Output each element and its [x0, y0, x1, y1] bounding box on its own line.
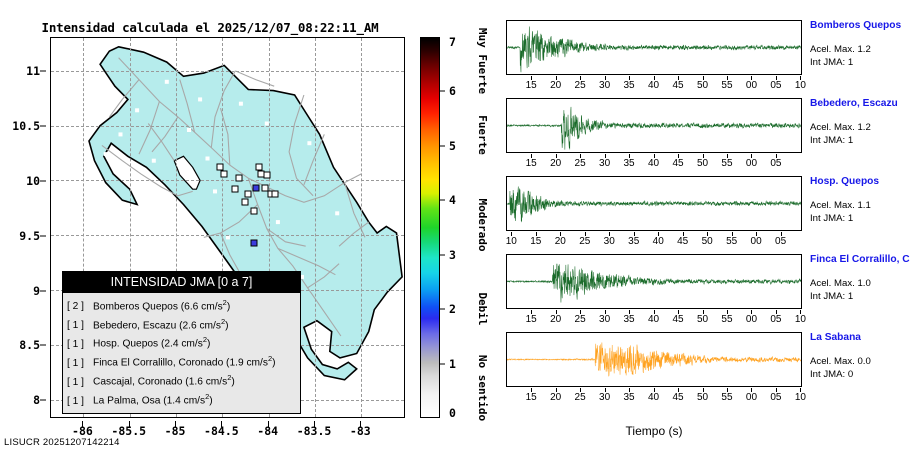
map-x-tick-mark	[314, 421, 315, 427]
intensity-legend-title: INTENSIDAD JMA [0 a 7]	[63, 272, 300, 293]
colorbar-category-label: No sentido	[476, 355, 489, 421]
seismogram-plot[interactable]	[506, 332, 802, 387]
seismogram-tick-label: 35	[624, 392, 635, 403]
seismogram-station-name[interactable]: Bomberos Quepos	[810, 20, 910, 32]
seismogram-x-ticks: 1520253035404550550005	[506, 154, 802, 170]
map-x-tick-mark	[82, 421, 83, 427]
seismogram-tick-label: 20	[550, 392, 561, 403]
seismogram-tick-label: 05	[770, 392, 781, 403]
map-y-tick-label: 11	[26, 64, 40, 78]
colorbar-tick-label: 7	[449, 35, 456, 49]
seismogram-tick-label: 50	[697, 392, 708, 403]
seismogram-tick-label: 40	[648, 314, 659, 325]
seismogram-tick-label: 10	[795, 392, 806, 403]
intensity-legend-level: [ 2 ]	[67, 300, 93, 315]
intensity-legend-level: [ 1 ]	[67, 338, 93, 353]
seismogram-tick-label: 55	[721, 158, 732, 169]
seismogram-x-ticks: 152025303540455055000510	[506, 310, 802, 326]
seismogram-tick-label: 30	[599, 314, 610, 325]
map-y-tick-mark	[40, 235, 46, 236]
seismogram-tick-label: 15	[526, 80, 537, 91]
seismogram-tick-label: 10	[506, 236, 517, 247]
colorbar-tick-mark	[440, 145, 445, 146]
seismogram-max-acceleration: Acel. Max. 1.2	[810, 43, 910, 56]
map-station-marker[interactable]	[236, 175, 243, 182]
map-y-tick-label: 10	[26, 174, 40, 188]
seismogram-max-acceleration: Acel. Max. 1.2	[810, 121, 910, 134]
map-y-tick-label: 8	[33, 393, 40, 407]
colorbar-tick-label: 1	[449, 357, 456, 371]
seismogram-plot[interactable]	[506, 176, 802, 231]
seismogram-station-info: Hosp. QueposAcel. Max. 1.1Int JMA: 1	[810, 176, 910, 225]
seismogram-station-name[interactable]: Bebedero, Escazu	[810, 98, 910, 110]
intensity-legend-station: Bomberos Quepos (6.6 cm/s	[93, 301, 223, 312]
seismogram-tick-label: 25	[575, 158, 586, 169]
footer-credit: LISUCR 20251207142214	[4, 437, 120, 448]
seismogram-tick-label: 15	[526, 158, 537, 169]
colorbar-tick-mark	[440, 363, 445, 364]
intensity-legend-station: Hosp. Quepos (2.4 cm/s	[93, 339, 203, 350]
intensity-map[interactable]: INTENSIDAD JMA [0 a 7] [ 2 ]Bomberos Que…	[50, 37, 405, 418]
map-station-marker[interactable]	[272, 190, 279, 197]
map-x-tick-mark	[221, 421, 222, 427]
intensity-legend-box: INTENSIDAD JMA [0 a 7] [ 2 ]Bomberos Que…	[62, 271, 301, 414]
intensity-legend-level: [ 1 ]	[67, 357, 93, 372]
colorbar-tick-label: 6	[449, 84, 456, 98]
colorbar-tick-label: 4	[449, 193, 456, 207]
seismogram-jma-intensity: Int JMA: 0	[810, 368, 910, 381]
map-y-tick-label: 8.5	[19, 338, 40, 352]
colorbar-gradient	[420, 37, 440, 418]
map-y-tick-mark	[40, 400, 46, 401]
seismogram-plot[interactable]	[506, 98, 802, 153]
colorbar-tick-mark	[440, 200, 445, 201]
map-station-marker[interactable]	[232, 186, 239, 193]
seismogram-jma-intensity: Int JMA: 1	[810, 56, 910, 69]
colorbar-tick-mark	[440, 91, 445, 92]
colorbar-category-label: Muy Fuerte	[476, 28, 489, 94]
seismogram-tick-label: 15	[526, 314, 537, 325]
map-gridline-horizontal	[51, 71, 404, 72]
intensity-legend-station: Cascajal, Coronado (1.6 cm/s	[93, 377, 227, 388]
seismogram-jma-intensity: Int JMA: 1	[810, 134, 910, 147]
map-station-marker[interactable]	[252, 185, 259, 192]
seismogram-tick-label: 50	[697, 80, 708, 91]
map-station-marker[interactable]	[241, 199, 248, 206]
map-gridline-vertical	[315, 38, 316, 417]
seismogram-tick-label: 55	[721, 80, 732, 91]
seismogram-tick-label: 05	[775, 236, 786, 247]
seismogram-tick-label: 35	[624, 158, 635, 169]
map-gridline-horizontal	[51, 126, 404, 127]
seismogram-station-name[interactable]: Hosp. Quepos	[810, 176, 910, 188]
map-y-tick-mark	[40, 290, 46, 291]
seismogram-tick-label: 55	[726, 236, 737, 247]
spacer	[810, 188, 910, 199]
seismogram-tick-label: 25	[575, 314, 586, 325]
intensity-legend-station: Finca El Corralillo, Coronado (1.9 cm/s	[93, 358, 268, 369]
seismogram-tick-label: 25	[575, 392, 586, 403]
seismogram-tick-label: 45	[672, 392, 683, 403]
seismogram-tick-label: 20	[550, 158, 561, 169]
seismogram-tick-label: 00	[751, 236, 762, 247]
seismogram-station-info: Bomberos QueposAcel. Max. 1.2Int JMA: 1	[810, 20, 910, 69]
map-gridline-horizontal	[51, 235, 404, 236]
seismogram-jma-intensity: Int JMA: 1	[810, 212, 910, 225]
seismogram-tick-label: 35	[624, 80, 635, 91]
seismogram-station-info: Finca El Corralillo, CoronadoAcel. Max. …	[810, 254, 910, 303]
seismogram-tick-label: 40	[648, 158, 659, 169]
intensity-legend-row: [ 1 ]Cascajal, Coronado (1.6 cm/s2)	[67, 371, 296, 390]
intensity-legend-level: [ 1 ]	[67, 319, 93, 334]
spacer	[810, 344, 910, 355]
seismogram-tick-label: 00	[746, 80, 757, 91]
seismogram-tick-label: 40	[648, 392, 659, 403]
seismogram-tick-label: 45	[672, 314, 683, 325]
map-gridline-horizontal	[51, 180, 404, 181]
intensity-legend-close: )	[207, 339, 210, 350]
intensity-legend-level: [ 1 ]	[67, 376, 93, 391]
seismogram-station-name[interactable]: La Sabana	[810, 332, 910, 344]
intensity-legend-station: Bebedero, Escazu (2.6 cm/s	[93, 320, 221, 331]
page-title: Intensidad calculada el 2025/12/07_08:22…	[0, 20, 420, 35]
seismogram-tick-label: 30	[599, 392, 610, 403]
colorbar-category-label: Debil	[476, 293, 489, 326]
seismogram-tick-label: 30	[604, 236, 615, 247]
intensity-legend-row: [ 1 ]La Palma, Osa (1.4 cm/s2)	[67, 390, 296, 409]
seismogram-tick-label: 45	[672, 158, 683, 169]
map-y-tick-mark	[40, 345, 46, 346]
seismogram-tick-label: 50	[697, 158, 708, 169]
intensity-legend-level: [ 1 ]	[67, 395, 93, 410]
intensity-legend-row: [ 2 ]Bomberos Quepos (6.6 cm/s2)	[67, 296, 296, 315]
map-station-marker[interactable]	[256, 164, 263, 171]
seismogram-tick-label: 50	[697, 314, 708, 325]
seismogram-tick-label: 05	[770, 158, 781, 169]
intensity-legend-close: )	[209, 396, 212, 407]
seismogram-tick-label: 30	[599, 80, 610, 91]
intensity-legend-close: )	[272, 358, 275, 369]
intensity-legend-close: )	[225, 320, 228, 331]
map-y-tick-mark	[40, 180, 46, 181]
seismogram-tick-label: 45	[672, 80, 683, 91]
map-station-marker[interactable]	[250, 208, 257, 215]
seismogram-tick-label: 20	[550, 314, 561, 325]
seismogram-tick-label: 55	[721, 392, 732, 403]
colorbar-tick-label: 0	[449, 406, 456, 420]
map-station-marker[interactable]	[263, 171, 270, 178]
intensity-legend-close: )	[231, 377, 234, 388]
intensity-colorbar: 01234567No sentidoDebilModeradoFuerteMuy…	[420, 37, 498, 418]
seismogram-tick-label: 40	[653, 236, 664, 247]
seismogram-tick-label: 35	[624, 314, 635, 325]
seismogram-tick-label: 05	[770, 80, 781, 91]
map-x-tick-mark	[360, 421, 361, 427]
seismogram-plot[interactable]	[506, 20, 802, 75]
map-y-tick-label: 10.5	[12, 119, 40, 133]
seismogram-tick-label: 25	[579, 236, 590, 247]
seismogram-x-ticks: 101520253035404550550005	[506, 232, 802, 248]
map-x-tick-mark	[268, 421, 269, 427]
intensity-legend-row: [ 1 ]Finca El Corralillo, Coronado (1.9 …	[67, 352, 296, 371]
seismogram-tick-label: 20	[550, 80, 561, 91]
intensity-legend-station: La Palma, Osa (1.4 cm/s	[93, 396, 205, 407]
seismogram-tick-label: 10	[795, 314, 806, 325]
seismogram-tick-label: 00	[746, 158, 757, 169]
spacer	[810, 266, 910, 277]
colorbar-tick-mark	[440, 309, 445, 310]
seismogram-tick-label: 15	[526, 392, 537, 403]
seismogram-tick-label: 40	[648, 80, 659, 91]
seismogram-plot[interactable]	[506, 254, 802, 309]
map-station-marker[interactable]	[221, 170, 228, 177]
intensity-legend-row: [ 1 ]Bebedero, Escazu (2.6 cm/s2)	[67, 315, 296, 334]
map-gridline-vertical	[361, 38, 362, 417]
seismogram-max-acceleration: Acel. Max. 0.0	[810, 355, 910, 368]
map-y-tick-label: 9	[33, 284, 40, 298]
colorbar-category-label: Moderado	[476, 198, 489, 251]
seismogram-tick-label: 00	[746, 314, 757, 325]
seismogram-max-acceleration: Acel. Max. 1.1	[810, 199, 910, 212]
map-y-tick-mark	[40, 71, 46, 72]
colorbar-tick-label: 5	[449, 139, 456, 153]
map-panel: Intensidad calculada el 2025/12/07_08:22…	[0, 0, 500, 460]
colorbar-tick-label: 3	[449, 248, 456, 262]
seismogram-station-info: Bebedero, EscazuAcel. Max. 1.2Int JMA: 1	[810, 98, 910, 147]
seismogram-panel: 152025303540455055000510Bomberos QueposA…	[500, 0, 910, 460]
seismogram-tick-label: 20	[555, 236, 566, 247]
map-y-axis: 88.599.51010.511	[0, 37, 46, 418]
spacer	[810, 32, 910, 43]
colorbar-tick-mark	[440, 254, 445, 255]
colorbar-tick-label: 2	[449, 302, 456, 316]
intensity-legend-row: [ 1 ]Hosp. Quepos (2.4 cm/s2)	[67, 333, 296, 352]
seismogram-tick-label: 25	[575, 80, 586, 91]
intensity-legend-close: )	[227, 301, 230, 312]
seismogram-tick-label: 55	[721, 314, 732, 325]
map-station-marker[interactable]	[261, 185, 268, 192]
map-station-marker[interactable]	[245, 190, 252, 197]
seismogram-tick-label: 05	[770, 314, 781, 325]
seismogram-tick-label: 50	[702, 236, 713, 247]
seismogram-max-acceleration: Acel. Max. 1.0	[810, 277, 910, 290]
map-x-tick-mark	[175, 421, 176, 427]
intensity-legend-list: [ 2 ]Bomberos Quepos (6.6 cm/s2)[ 1 ]Beb…	[63, 293, 300, 413]
map-x-tick-mark	[129, 421, 130, 427]
map-station-marker[interactable]	[250, 239, 257, 246]
seismogram-jma-intensity: Int JMA: 1	[810, 290, 910, 303]
seismogram-tick-label: 35	[628, 236, 639, 247]
map-y-tick-label: 9.5	[19, 229, 40, 243]
seismogram-station-name[interactable]: Finca El Corralillo, Coronado	[810, 254, 910, 266]
seismogram-tick-label: 00	[746, 392, 757, 403]
map-y-tick-mark	[40, 126, 46, 127]
seismogram-tick-label: 45	[677, 236, 688, 247]
seismogram-x-axis-label: Tiempo (s)	[506, 424, 802, 438]
seismogram-tick-label: 30	[599, 158, 610, 169]
spacer	[810, 110, 910, 121]
seismogram-x-ticks: 152025303540455055000510	[506, 388, 802, 404]
seismogram-tick-label: 15	[530, 236, 541, 247]
seismogram-station-info: La SabanaAcel. Max. 0.0Int JMA: 0	[810, 332, 910, 381]
seismogram-x-ticks: 152025303540455055000510	[506, 76, 802, 92]
colorbar-category-label: Fuerte	[476, 115, 489, 155]
seismogram-tick-label: 10	[795, 80, 806, 91]
